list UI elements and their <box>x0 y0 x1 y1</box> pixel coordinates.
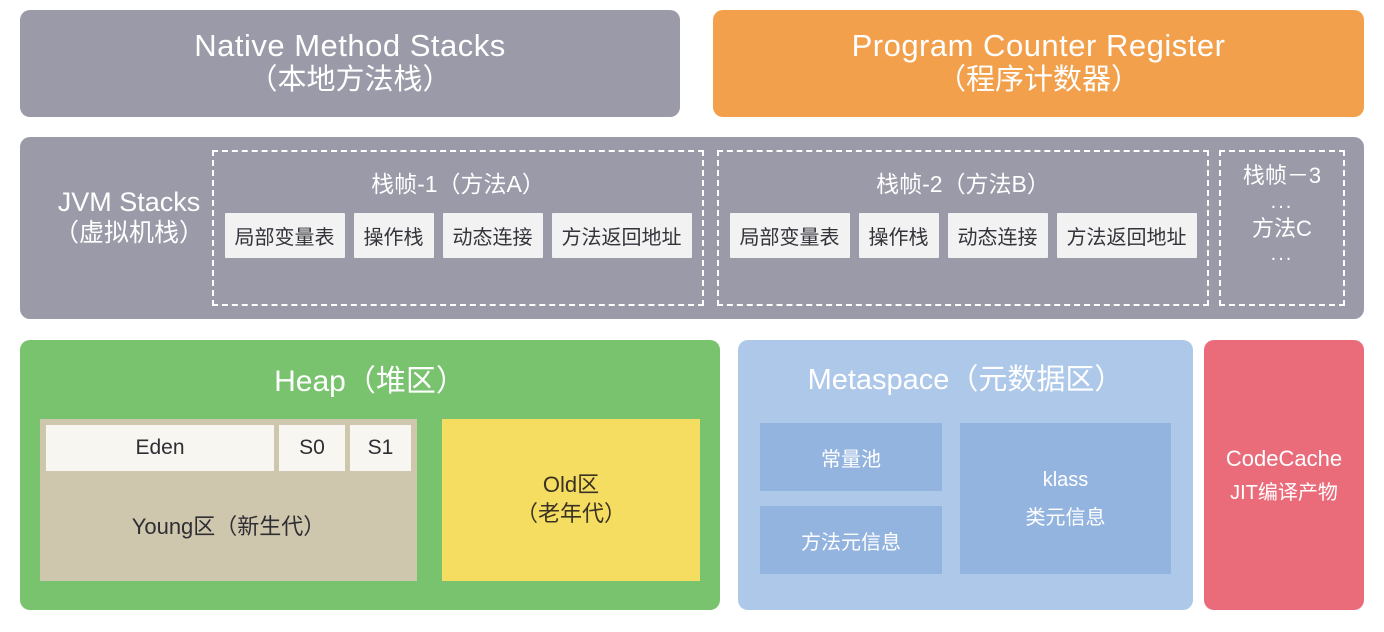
codecache-block: CodeCache JIT编译产物 <box>1204 340 1364 610</box>
native-method-stacks-title-en: Native Method Stacks <box>194 29 506 64</box>
frame-part-local-variable-table: 局部变量表 <box>730 213 850 258</box>
young-generation-cells: Eden S0 S1 <box>40 419 417 471</box>
stack-frame-2-parts: 局部变量表 操作栈 动态连接 方法返回地址 <box>719 213 1207 258</box>
stack-frame-2-title: 栈帧-2（方法B） <box>719 165 1207 199</box>
old-generation-subtitle: （老年代） <box>516 500 626 529</box>
klass-subtitle: 类元信息 <box>1026 499 1106 537</box>
program-counter-register-title-cn: （程序计数器） <box>937 63 1140 98</box>
metaspace-title: Metaspace（元数据区） <box>738 356 1193 398</box>
frame-part-return-address: 方法返回地址 <box>1057 213 1197 258</box>
survivor-1-cell: S1 <box>350 425 411 471</box>
old-generation-title: Old区 <box>543 471 599 500</box>
jvm-stacks-title-en: JVM Stacks <box>34 187 224 218</box>
frame-part-return-address: 方法返回地址 <box>552 213 692 258</box>
jvm-stacks-block: JVM Stacks （虚拟机栈） 栈帧-1（方法A） 局部变量表 操作栈 动态… <box>20 137 1364 319</box>
stack-frame-3-dots-top: ... <box>1221 190 1343 215</box>
klass-title: klass <box>1043 461 1089 499</box>
native-method-stacks-block: Native Method Stacks （本地方法栈） <box>20 10 680 117</box>
frame-part-operand-stack: 操作栈 <box>354 213 434 258</box>
stack-frame-2: 栈帧-2（方法B） 局部变量表 操作栈 动态连接 方法返回地址 <box>717 150 1209 306</box>
frame-part-local-variable-table: 局部变量表 <box>225 213 345 258</box>
stack-frame-3-method: 方法C <box>1221 215 1343 243</box>
frame-part-dynamic-linking: 动态连接 <box>443 213 543 258</box>
stack-frame-3-title: 栈帧－3 <box>1221 162 1343 190</box>
stack-frame-3-dots-bottom: ... <box>1221 242 1343 267</box>
frame-part-operand-stack: 操作栈 <box>859 213 939 258</box>
young-generation-area: Eden S0 S1 Young区（新生代） <box>40 419 417 581</box>
jvm-stacks-label: JVM Stacks （虚拟机栈） <box>34 187 224 249</box>
method-metadata-box: 方法元信息 <box>760 506 942 574</box>
eden-cell: Eden <box>46 425 274 471</box>
heap-title: Heap（堆区） <box>20 356 720 400</box>
codecache-title-en: CodeCache <box>1226 441 1342 476</box>
stack-frame-1: 栈帧-1（方法A） 局部变量表 操作栈 动态连接 方法返回地址 <box>212 150 704 306</box>
program-counter-register-block: Program Counter Register （程序计数器） <box>713 10 1364 117</box>
program-counter-register-title-en: Program Counter Register <box>852 29 1226 64</box>
native-method-stacks-title-cn: （本地方法栈） <box>248 63 451 98</box>
stack-frame-3: 栈帧－3 ... 方法C ... <box>1219 150 1345 306</box>
young-generation-label: Young区（新生代） <box>40 509 417 541</box>
stack-frame-1-parts: 局部变量表 操作栈 动态连接 方法返回地址 <box>214 213 702 258</box>
stack-frame-1-title: 栈帧-1（方法A） <box>214 165 702 199</box>
metaspace-block: Metaspace（元数据区） 常量池 方法元信息 klass 类元信息 <box>738 340 1193 610</box>
jvm-stacks-title-cn: （虚拟机栈） <box>34 218 224 249</box>
old-generation-area: Old区 （老年代） <box>442 419 700 581</box>
jvm-memory-diagram: Native Method Stacks （本地方法栈） Program Cou… <box>0 0 1384 632</box>
frame-part-dynamic-linking: 动态连接 <box>948 213 1048 258</box>
survivor-0-cell: S0 <box>279 425 345 471</box>
klass-box: klass 类元信息 <box>960 423 1171 574</box>
stack-frame-3-lines: 栈帧－3 ... 方法C ... <box>1221 162 1343 267</box>
heap-block: Heap（堆区） Eden S0 S1 Young区（新生代） Old区 （老年… <box>20 340 720 610</box>
constant-pool-box: 常量池 <box>760 423 942 491</box>
codecache-title-cn: JIT编译产物 <box>1230 477 1338 509</box>
